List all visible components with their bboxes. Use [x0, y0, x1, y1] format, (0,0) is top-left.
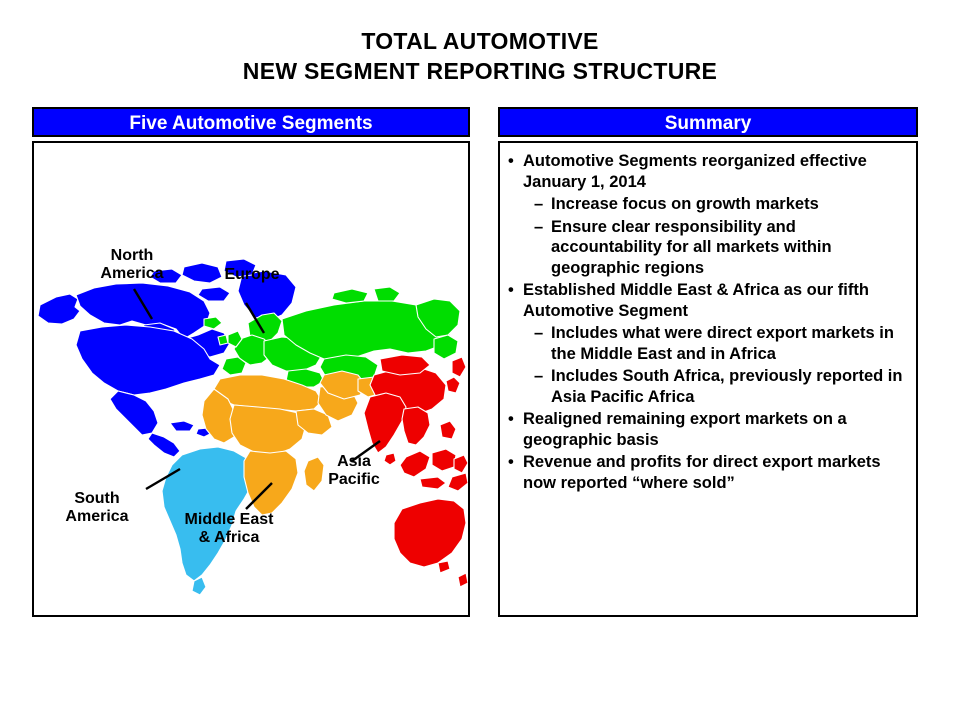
bullet-marker: – [534, 194, 551, 215]
bullet-marker: • [508, 151, 523, 172]
map-label-north-america: North America [84, 247, 180, 283]
bullet-text: Ensure clear responsibility and accounta… [551, 217, 908, 279]
page-title: TOTAL AUTOMOTIVE NEW SEGMENT REPORTING S… [0, 26, 960, 86]
title-line-2: NEW SEGMENT REPORTING STRUCTURE [0, 56, 960, 86]
bullet-text: Automotive Segments reorganized effectiv… [523, 151, 908, 192]
bullet-marker: • [508, 452, 523, 473]
summary-bullet: –Includes South Africa, previously repor… [534, 366, 908, 407]
summary-bullet: –Increase focus on growth markets [534, 194, 908, 215]
bullet-text: Includes South Africa, previously report… [551, 366, 908, 407]
bullet-marker: – [534, 217, 551, 238]
map-label-south-america: South America [42, 490, 152, 526]
map-label-middle-east-africa: Middle East & Africa [166, 511, 292, 547]
map-label-asia-pacific: Asia Pacific [312, 453, 396, 489]
summary-panel: Summary •Automotive Segments reorganized… [498, 107, 918, 617]
summary-bullet: •Automotive Segments reorganized effecti… [508, 151, 908, 192]
summary-bullet: –Ensure clear responsibility and account… [534, 217, 908, 279]
summary-bullet-list: •Automotive Segments reorganized effecti… [500, 143, 916, 493]
five-automotive-segments-panel: Five Automotive Segments [32, 107, 470, 617]
summary-bullet: •Realigned remaining export markets on a… [508, 409, 908, 450]
summary-bullet: •Revenue and profits for direct export m… [508, 452, 908, 493]
bullet-text: Established Middle East & Africa as our … [523, 280, 908, 321]
world-map-container: North America Europe Asia Pacific South … [34, 143, 468, 615]
summary-bullet: •Established Middle East & Africa as our… [508, 280, 908, 321]
bullet-marker: • [508, 409, 523, 430]
bullet-marker: • [508, 280, 523, 301]
map-label-europe: Europe [206, 266, 298, 284]
segments-panel-body: North America Europe Asia Pacific South … [32, 141, 470, 617]
title-line-1: TOTAL AUTOMOTIVE [0, 26, 960, 56]
segments-panel-header: Five Automotive Segments [32, 107, 470, 137]
bullet-text: Increase focus on growth markets [551, 194, 908, 215]
bullet-text: Includes what were direct export markets… [551, 323, 908, 364]
bullet-marker: – [534, 366, 551, 387]
bullet-marker: – [534, 323, 551, 344]
summary-bullet: –Includes what were direct export market… [534, 323, 908, 364]
bullet-text: Realigned remaining export markets on a … [523, 409, 908, 450]
summary-panel-body: •Automotive Segments reorganized effecti… [498, 141, 918, 617]
bullet-text: Revenue and profits for direct export ma… [523, 452, 908, 493]
summary-panel-header: Summary [498, 107, 918, 137]
